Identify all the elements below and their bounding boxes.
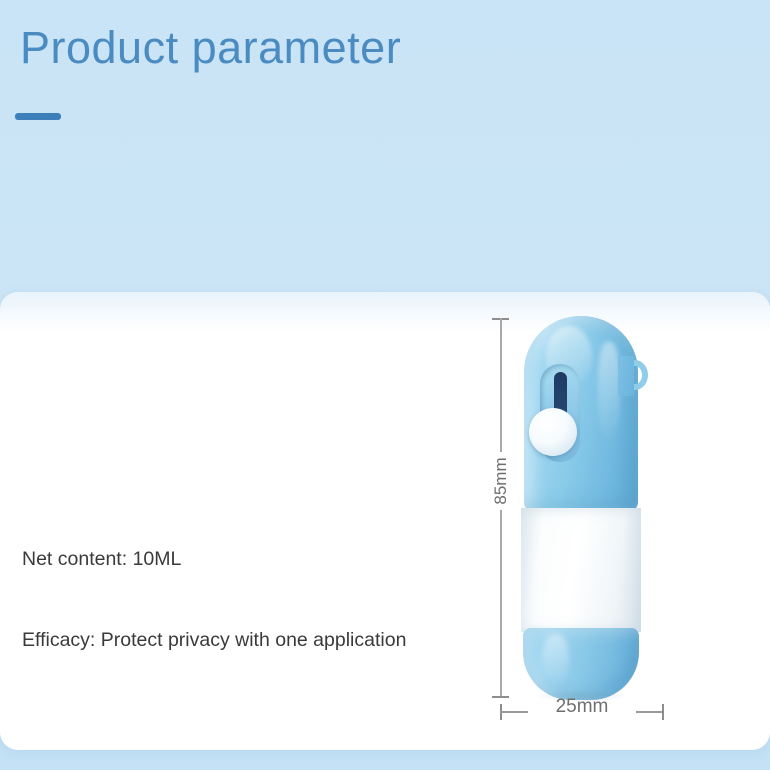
base-highlight [543, 634, 569, 684]
cap-hook-base [618, 356, 634, 396]
spec-efficacy: Efficacy: Protect privacy with one appli… [22, 628, 472, 653]
spec-list: Net content: 10ML Efficacy: Protect priv… [22, 547, 472, 654]
page-title: Product parameter [20, 22, 401, 74]
height-dimension: 85mm [488, 318, 514, 698]
height-dimension-label: 85mm [488, 452, 514, 510]
slider-knob [529, 408, 577, 456]
spec-net-content: Net content: 10ML [22, 547, 472, 572]
content-card: Net content: 10ML Efficacy: Protect priv… [0, 292, 770, 750]
width-dimension: 25mm [498, 694, 678, 730]
header-banner: Product parameter [0, 0, 770, 292]
product-middle-band [521, 508, 641, 632]
width-dimension-right-tick [662, 704, 664, 720]
product-illustration: 85mm [470, 302, 730, 742]
product-body [518, 316, 644, 700]
cap-highlight-secondary [598, 342, 620, 438]
product-parameter-page: Product parameter Net content: 10ML Effi… [0, 0, 770, 770]
width-dimension-right-line [636, 711, 664, 713]
title-underline-accent [15, 113, 61, 120]
width-dimension-left-line [500, 711, 528, 713]
width-dimension-label: 25mm [526, 696, 638, 718]
